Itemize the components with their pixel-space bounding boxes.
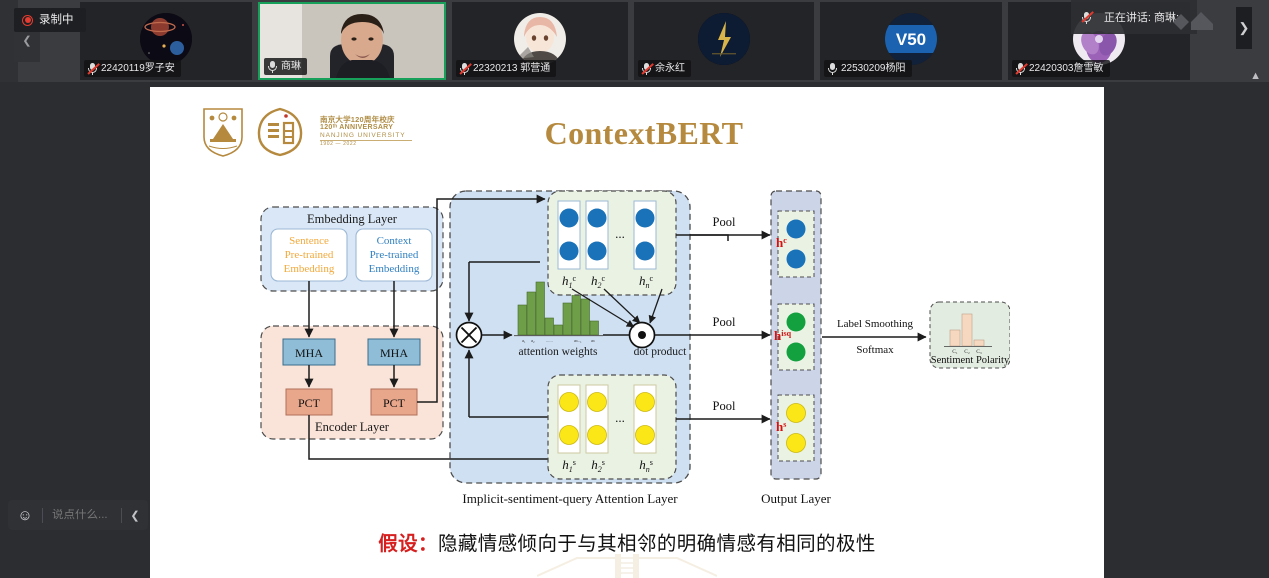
output-node-context: hc [776,211,814,277]
svg-text:Embedding: Embedding [369,263,420,275]
active-speaker-text: 正在讲话: 商琳; [1104,9,1179,25]
softmax-label: Softmax [856,344,894,356]
participant-nameplate: 商琳 [264,58,307,75]
output-node-isq: hisq [774,304,814,370]
contextbert-architecture-svg: Embedding Layer Sentence Pre-trained Emb… [250,185,1010,515]
encoder-layer-title: Encoder Layer [315,420,390,434]
attention-weights-label: attention weights [519,346,598,358]
participant-tile-active-speaker[interactable]: 商琳 [258,2,446,80]
caption-highlight: 假设： [378,534,438,555]
anime-character-avatar [514,13,566,65]
svg-text:a₁: a₁ [522,338,526,343]
dot-product-label: dot product [634,346,688,358]
slide-watermark [537,554,717,578]
presentation-slide: 南京大学120周年校庆 120ᵗʰ ANNIVERSARY NANJING UN… [150,87,1104,578]
filmstrip-next-button[interactable]: ❯ [1236,7,1252,49]
chevron-left-icon: ❮ [130,509,139,522]
chat-collapse-button[interactable]: ❮ [122,500,148,530]
participant-name: 余永红 [655,61,685,76]
participant-name: 22420119罗子安 [101,61,175,76]
space-planet-avatar [140,13,192,65]
svg-text:...: ... [615,410,625,425]
chevron-right-icon: ❯ [1239,20,1250,36]
svg-text:MHA: MHA [295,346,323,360]
mic-muted-icon [1015,62,1026,75]
participant-tile[interactable]: 余永红 [634,2,814,80]
svg-text:Context: Context [377,235,412,247]
svg-text:a₂: a₂ [531,338,535,343]
mic-on-icon [827,62,838,75]
recording-panel-collapse-button[interactable]: ❮ [14,32,40,62]
mic-on-icon [267,60,278,73]
participant-name: 22420303詹雪敏 [1029,61,1104,76]
attention-layer-title: Implicit-sentiment-query Attention Layer [462,491,678,506]
svg-text:Sentence: Sentence [289,235,329,247]
label-smoothing-label: Label Smoothing [837,318,914,330]
slide-caption: 假设：隐藏情感倾向于与其相邻的明确情感有相同的极性 [150,527,1104,556]
shared-screen-stage: 南京大学120周年校庆 120ᵗʰ ANNIVERSARY NANJING UN… [0,82,1269,578]
architecture-diagram: Embedding Layer Sentence Pre-trained Emb… [250,185,1010,515]
v50-sign-avatar: V50 [885,13,937,65]
svg-text:Pre-trained: Pre-trained [370,249,419,261]
output-node-sentence: hs [776,395,814,461]
svg-text:......: ...... [546,338,553,343]
svg-text:...: ... [615,226,625,241]
slide-watermark-icon [537,554,717,578]
sentiment-polarity-title: Sentiment Polarity [931,355,1010,366]
participant-name: 22320213 郭营通 [473,61,550,76]
svg-text:Pool: Pool [713,315,736,329]
chat-message-input[interactable] [43,509,121,521]
participant-nameplate: 22530209杨阳 [824,60,912,77]
participant-nameplate: 余永红 [638,60,691,77]
participant-tile[interactable]: V50 22530209杨阳 [820,2,1002,80]
page-title-text: ContextBERT [511,115,744,151]
participant-nameplate: 22420119罗子安 [84,60,181,77]
output-layer-title: Output Layer [761,491,831,506]
page-title: ContextBERT [150,115,1104,152]
participant-tile[interactable]: 22320213 郭营通 [452,2,628,80]
mic-muted-icon [641,62,652,75]
dark-badge-avatar [698,13,750,65]
chevron-up-icon: ▲ [1250,70,1261,82]
v50-sign-icon: V50 [885,13,937,65]
svg-text:Pool: Pool [713,215,736,229]
recording-badge: 录制中 [14,8,86,32]
space-planet-icon [140,13,192,65]
svg-text:PCT: PCT [298,396,321,410]
anime-character-icon [514,13,566,65]
sentiment-polarity-chart: C₁ C₂ C₃ Sentiment Polarity [930,302,1010,368]
participant-nameplate: 22420303詹雪敏 [1012,60,1110,77]
svg-text:PCT: PCT [383,396,406,410]
record-dot-icon [22,15,33,26]
svg-text:Embedding: Embedding [284,263,335,275]
svg-text:aₙ: aₙ [591,338,595,343]
meeting-screen-share-window: 22420119罗子安 [0,0,1269,578]
participant-filmstrip: 22420119罗子安 [0,0,1269,82]
emoji-smile-icon[interactable]: ☺ [8,500,42,530]
svg-text:Pre-trained: Pre-trained [285,249,334,261]
dark-badge-icon [698,13,750,65]
participant-tile[interactable]: 22420119罗子安 [80,2,252,80]
chat-input-bar[interactable]: ☺ ❮ [8,500,148,530]
filmstrip-collapse-button[interactable]: ▲ [1250,70,1261,82]
svg-text:MHA: MHA [380,346,408,360]
participant-name: 22530209杨阳 [841,61,906,76]
mic-muted-icon [1081,11,1092,24]
chevron-left-icon: ❮ [22,34,31,47]
participant-nameplate: 22320213 郭营通 [456,60,556,77]
svg-text:V50: V50 [896,30,926,49]
embedding-layer-title: Embedding Layer [307,212,398,226]
svg-text:aₙ₋₁: aₙ₋₁ [574,338,582,343]
mic-muted-icon [87,62,98,75]
app-logo-icon [1169,8,1229,32]
app-logo [1169,8,1229,32]
recording-label: 录制中 [39,9,74,31]
caption-rest: 隐藏情感倾向于与其相邻的明确情感有相同的极性 [438,534,876,555]
participant-name: 商琳 [281,59,301,74]
mic-muted-icon [459,62,470,75]
svg-text:Pool: Pool [713,399,736,413]
